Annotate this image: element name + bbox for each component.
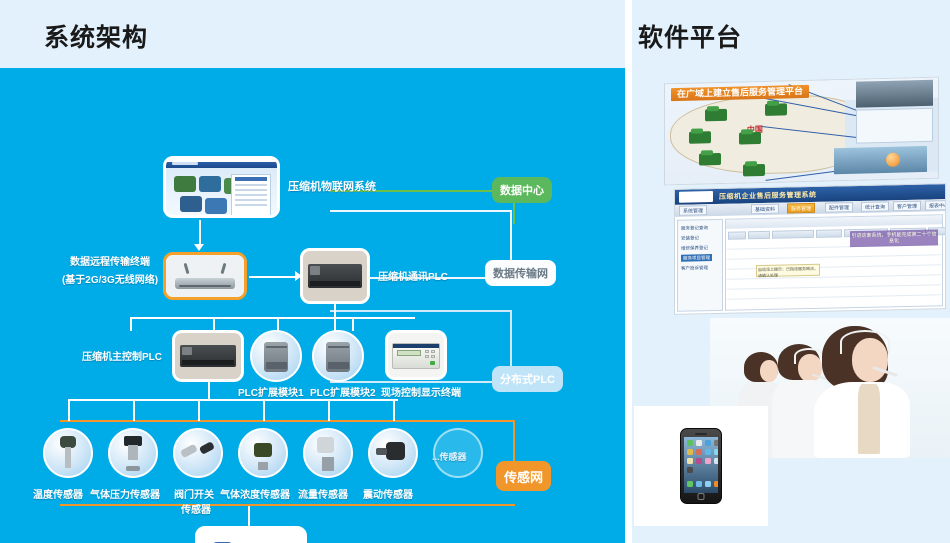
sensor-vibration[interactable] (368, 428, 418, 478)
website-sidepanel (231, 174, 271, 218)
main-control-plc[interactable] (172, 330, 244, 382)
smartphone-device[interactable] (680, 428, 722, 504)
plc-body (308, 264, 362, 288)
sensor-flow[interactable] (303, 428, 353, 478)
map-compressor-icon (689, 131, 711, 144)
main-plc-device (175, 333, 241, 379)
page-title-left: 系统架构 (44, 18, 148, 54)
map-data-center-marker (886, 153, 900, 167)
sensor-rail-top (60, 420, 515, 422)
router-body (175, 278, 234, 289)
sensor-rail-bottom (60, 504, 515, 506)
field-control-display-terminal[interactable] (385, 330, 447, 380)
sensor-distribution-bus (68, 399, 398, 401)
software-platform-panel: 中国 在广域上建立售后服务管理平台 (632, 68, 950, 543)
map-compressor-icon (743, 164, 765, 177)
app-title: 压缩机企业售后服务管理系统 (719, 190, 817, 202)
label-sensor-temperature: 温度传感器 (33, 489, 83, 502)
drop-sensor-3 (198, 399, 200, 421)
plc-expansion-module-2[interactable] (312, 330, 364, 382)
plc-distribution-bus (130, 317, 415, 319)
map-compressor-icon (739, 132, 761, 145)
sensor-gas-concentration[interactable] (238, 428, 288, 478)
left-header-band: 系统架构 (0, 0, 625, 68)
right-header-band: 软件平台 (632, 0, 950, 68)
compressor-image (198, 529, 304, 543)
branch-module-2 (277, 317, 279, 331)
drop-sensor-4 (263, 399, 265, 421)
sensor-gas-pressure[interactable] (108, 428, 158, 478)
drop-sensor-1 (68, 399, 70, 421)
sensor-temperature[interactable] (43, 428, 93, 478)
connector-mainplc-down (208, 382, 210, 400)
app-toolbar[interactable] (726, 215, 942, 229)
main-plc-body (180, 345, 235, 367)
branch-main-plc (130, 317, 132, 331)
tab-reports[interactable]: 报表中心 (925, 200, 946, 211)
badge-sensor-network[interactable]: 传感网 (496, 461, 551, 491)
slide-root: 系统架构 软件平台 (0, 0, 950, 543)
map-city-photo (834, 146, 927, 174)
drop-sensor-2 (133, 399, 135, 421)
label-sensor-more: ...传感器 (432, 451, 467, 464)
sensor-valve-switch[interactable] (173, 428, 223, 478)
antenna-left-icon (183, 263, 189, 274)
plc-rail-bottom (330, 381, 512, 383)
gas-concentration-sensor-icon (240, 430, 286, 476)
communication-plc[interactable] (300, 248, 370, 304)
map-office-photo (856, 80, 932, 108)
page-title-right: 软件平台 (638, 18, 742, 54)
valve-switch-sensor-icon (175, 430, 221, 476)
module-1-body (264, 342, 289, 373)
website-mock (166, 159, 277, 215)
label-main-plc: 压缩机主控制PLC (82, 351, 162, 364)
map-compressor-icon (765, 103, 787, 116)
label-remote-terminal-line2: (基于2G/3G无线网络) (56, 274, 164, 287)
hmi-screen (397, 350, 421, 357)
module-1-device (252, 332, 300, 380)
hmi-enter-key (430, 361, 435, 365)
branch-hmi (352, 317, 354, 331)
hmi-brand-strip (393, 344, 438, 348)
drop-sensor-5 (328, 399, 330, 421)
plc-expansion-module-1[interactable] (250, 330, 302, 382)
app-promo-banner: 引进这套系统，手机能完成第二十个信息化 (850, 229, 938, 247)
label-iot-system: 压缩机物联网系统 (288, 181, 376, 194)
branch-module-1 (213, 317, 215, 331)
antenna-right-icon (221, 263, 227, 274)
pressure-sensor-icon (110, 430, 156, 476)
label-sensor-flow: 流量传感器 (298, 489, 348, 502)
label-sensor-vibration: 震动传感器 (363, 489, 413, 502)
map-screenshot[interactable]: 中国 在广域上建立售后服务管理平台 (664, 77, 939, 186)
badge-data-center[interactable]: 数据中心 (492, 177, 552, 203)
arrow-site-to-router (194, 244, 204, 251)
phone-screen (684, 437, 718, 493)
phone-home-button[interactable] (698, 493, 705, 500)
app-navigation-tree[interactable]: 服务登记查询 安装登记 维修保养登记 服务项目管理 客户投诉管理 (677, 219, 723, 312)
tree-item-0[interactable]: 服务登记查询 (681, 224, 708, 232)
router-device (166, 255, 244, 297)
phone-speaker-icon (695, 433, 707, 435)
temperature-sensor-icon (45, 430, 91, 476)
tree-item-3-selected[interactable]: 服务项目管理 (681, 254, 712, 262)
transmission-rail-top (330, 210, 512, 212)
map-compressor-icon (705, 109, 727, 122)
app-logo (679, 191, 713, 203)
app-tooltip: 自动派工提示：已指派服务网点，请确认处理 (756, 264, 820, 277)
service-management-app-screenshot[interactable]: 压缩机企业售后服务管理系统 系统管理 基础资料 服务管理 配件管理 统计查询 客… (674, 183, 946, 315)
badge-data-transmission[interactable]: 数据传输网 (485, 260, 556, 286)
label-sensor-valve-line1: 阀门开关 (174, 489, 214, 502)
module-2-body (326, 342, 351, 373)
tab-stats[interactable]: 统计查询 (861, 201, 889, 212)
drop-sensor-6 (393, 399, 395, 421)
plc-rail-top (330, 310, 512, 312)
flow-sensor-icon (305, 430, 351, 476)
compressor-equipment[interactable] (195, 526, 307, 543)
label-sensor-gas-pressure: 气体压力传感器 (90, 489, 160, 502)
hmi-faceplate (392, 343, 439, 369)
smartphone-photo (634, 406, 768, 526)
badge-distributed-plc[interactable]: 分布式PLC (492, 366, 563, 392)
map-ui-thumbnail (856, 108, 932, 144)
tab-parts[interactable]: 配件管理 (825, 202, 853, 213)
tree-item-4[interactable]: 客户投诉管理 (681, 264, 708, 272)
label-comm-plc: 压缩机通讯PLC (378, 271, 448, 284)
connector-router-to-commplc (249, 276, 297, 278)
tab-basic-data[interactable]: 基础资料 (751, 204, 779, 215)
module-2-device (314, 332, 362, 380)
plc-device (303, 251, 367, 301)
iot-system-screenshot[interactable] (163, 156, 280, 218)
website-body (166, 168, 277, 215)
tree-item-2[interactable]: 维修保养登记 (681, 244, 708, 252)
connector-to-compressor (248, 506, 250, 526)
vibration-sensor-icon (370, 430, 416, 476)
hmi-device (388, 333, 444, 377)
architecture-panel: 压缩机物联网系统 数据远程传输终端 (基于2G/3G无线网络) 压缩机通讯PLC (0, 68, 625, 543)
label-sensor-gas-concentration: 气体浓度传感器 (220, 489, 290, 502)
connector-site-to-router (199, 220, 201, 246)
tab-customer[interactable]: 客户管理 (893, 201, 921, 212)
app-content-area: 引进这套系统，手机能完成第二十个信息化 自动派工提示：已指派服务网点，请确认处理 (725, 214, 943, 311)
map-compressor-icon (699, 153, 721, 166)
remote-transmission-terminal[interactable] (163, 252, 247, 300)
label-remote-terminal-line1: 数据远程传输终端 (62, 256, 158, 269)
operator-1 (814, 326, 910, 458)
tab-service[interactable]: 服务管理 (787, 203, 815, 214)
tree-item-1[interactable]: 安装登记 (681, 234, 699, 241)
label-sensor-valve-line2: 传感器 (181, 504, 211, 517)
tab-system[interactable]: 系统管理 (679, 205, 707, 216)
